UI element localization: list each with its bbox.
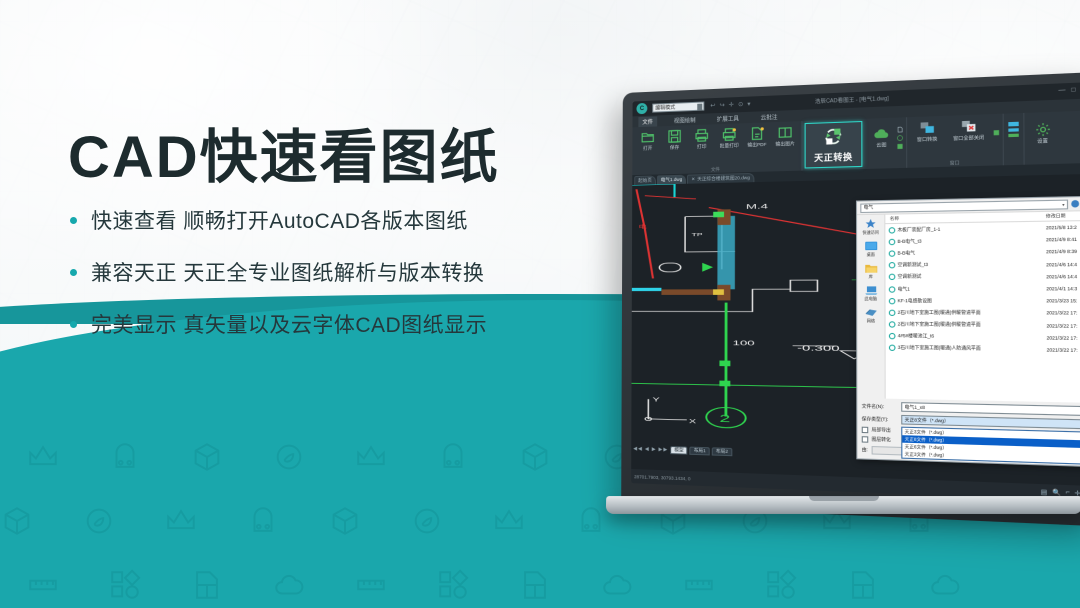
settings-label: 设置 — [1037, 138, 1048, 145]
layout1-tab[interactable]: 布局1 — [690, 447, 710, 456]
dwg-file-icon — [889, 274, 896, 280]
tianzheng-convert-label: 天正转换 — [814, 151, 853, 165]
svg-text:Y: Y — [653, 396, 661, 403]
bars-icon[interactable] — [1008, 128, 1018, 132]
sidebar-label-library: 库 — [869, 275, 873, 280]
file-name: 空调新测试 — [898, 274, 922, 280]
save-button[interactable]: 保存 — [661, 128, 688, 151]
batch-print-label: 批量打印 — [720, 143, 739, 150]
file-date: 2021/4/6 14:4 — [1046, 261, 1080, 267]
column-header-name[interactable]: 名称 — [885, 213, 1046, 222]
tab-nav-first-icon[interactable]: ◀◀ — [633, 446, 643, 452]
zoom-icon[interactable]: ⊙ — [738, 101, 743, 108]
cloud-button[interactable]: 云图 — [867, 125, 896, 151]
file-list-rows: 木板厂装配厂房_1-1 2021/5/8 13:2 B-B电气_t3 2021/… — [885, 221, 1080, 404]
leaf-badge-icon — [82, 504, 116, 538]
table-row[interactable]: KF-1电感散设图 2021/3/23 15: — [886, 295, 1080, 307]
compass-house-icon — [436, 440, 470, 474]
close-all-windows-label: 窗口全部关闭 — [953, 135, 984, 142]
range-from-label: 由: — [862, 447, 868, 454]
compass-house-icon — [108, 440, 142, 474]
tab-nav-last-icon[interactable]: ▶▶ — [659, 447, 669, 453]
ruler-icon — [26, 568, 60, 602]
crown-icon — [492, 504, 526, 538]
tianzheng-convert-icon — [822, 126, 846, 150]
sidebar-item-desktop[interactable]: 桌面 — [864, 241, 877, 258]
sidebar-item-this-pc[interactable]: 此电脑 — [864, 285, 877, 302]
ruler-icon — [682, 568, 716, 602]
window-switch-button[interactable]: 窗口转换 — [909, 119, 945, 143]
sidebar-item-quick-access[interactable]: 快速访问 — [862, 218, 879, 236]
save-type-value: 天正8文件（*.dwg） — [905, 417, 949, 425]
feature-text: 完美显示 真矢量以及云字体CAD图纸显示 — [91, 309, 487, 339]
sidebar-label-this-pc: 此电脑 — [865, 297, 877, 302]
sidebar-label-desktop: 桌面 — [867, 253, 875, 258]
crown-icon — [26, 440, 60, 474]
compass-house-icon — [246, 504, 280, 538]
table-row[interactable]: 空调新测试 2021/4/6 14:4 — [885, 270, 1080, 283]
model-tab[interactable]: 模型 — [670, 446, 687, 455]
open-button[interactable]: 打开 — [634, 129, 661, 152]
save-label: 保存 — [670, 145, 679, 151]
app-logo-icon: C — [636, 103, 647, 114]
partial-export-label: 局部导出 — [872, 427, 891, 434]
chevron-down-icon[interactable]: ▾ — [1062, 201, 1064, 206]
printer-icon — [694, 128, 709, 144]
cube-rotate-icon — [518, 440, 552, 474]
dwg-file-icon — [889, 310, 896, 316]
sidebar-item-library[interactable]: 库 — [864, 263, 877, 280]
shapes-icon — [764, 568, 798, 602]
folder-open-icon — [640, 130, 655, 145]
file-date: 2021/3/22 17: — [1046, 310, 1080, 316]
bullet-dot-icon — [70, 269, 77, 276]
file-name: 木板厂装配厂房_1-1 — [897, 226, 940, 233]
tab-nav-prev-icon[interactable]: ◀ — [645, 446, 650, 452]
sidebar-item-network[interactable]: 网络 — [864, 307, 877, 324]
close-all-windows-button[interactable]: 窗口全部关闭 — [945, 117, 993, 142]
file-date: 2021/3/22 17: — [1047, 347, 1080, 353]
compass-house-icon — [574, 504, 608, 538]
table-row[interactable]: 电气1 2021/4/1 14:3 — [885, 282, 1080, 295]
tab-extended-tools[interactable]: 扩展工具 — [713, 113, 743, 124]
file-name-value: 电气1_x8 — [904, 404, 924, 411]
window-controls[interactable]: — □ ✕ — [1058, 87, 1080, 96]
document-grid-icon — [518, 568, 552, 602]
dwg-file-icon — [889, 333, 896, 339]
table-row[interactable]: 2石川地下室施工图(暖通)供暖管道平面 2021/3/22 17: — [886, 307, 1080, 320]
svg-text:TP: TP — [692, 233, 704, 238]
layer-convert-label: 图层转化 — [872, 436, 891, 443]
file-name: B-B电气_t3 — [897, 238, 921, 245]
dwg-file-icon — [889, 239, 896, 245]
redo-icon[interactable]: ↪ — [720, 102, 725, 109]
shapes-icon — [436, 568, 470, 602]
settings-button[interactable]: 设置 — [1027, 120, 1059, 145]
minimize-icon[interactable]: — — [1058, 88, 1065, 96]
cloud-icon — [928, 568, 962, 602]
partial-export-checkbox[interactable] — [862, 427, 869, 434]
file-date: 2021/4/9 8:41 — [1046, 236, 1080, 242]
feature-text: 兼容天正 天正全专业图纸解析与版本转换 — [91, 257, 484, 287]
ribbon-group-window: 窗口转换 窗口全部关闭 — [907, 114, 1004, 168]
svg-text:电: 电 — [638, 224, 647, 230]
ruler-icon — [354, 568, 388, 602]
file-date: 2021/3/22 17: — [1047, 335, 1080, 341]
file-name: 2石川地下室施工图(暖通)供暖管道平面 — [898, 321, 981, 328]
tab-file[interactable]: 文件 — [638, 116, 657, 127]
doc-tab-tianzheng-label: 天正综合楼建筑图20.dwg — [697, 175, 750, 182]
column-header-date[interactable]: 修改日期 — [1046, 212, 1080, 220]
dwg-file-icon — [889, 286, 896, 292]
feature-text: 快速查看 顺畅打开AutoCAD各版本图纸 — [91, 205, 468, 235]
batch-print-icon — [722, 127, 737, 143]
floppy-save-icon — [667, 129, 682, 145]
save-type-label: 保存类型(T): — [862, 416, 902, 423]
ribbon-group-settings: 设置 — [1024, 112, 1060, 165]
file-list[interactable]: 名称 修改日期 木板厂装配厂房_1-1 2021/5/8 13:2 — [885, 211, 1080, 404]
cloud-upload-icon[interactable] — [896, 126, 904, 134]
window-switch-icon — [919, 119, 936, 135]
export-pdf-button[interactable]: 输出PDF — [743, 125, 771, 148]
export-pdf-label: 输出PDF — [747, 142, 766, 149]
crown-icon — [354, 440, 388, 474]
file-date: 2021/4/6 14:4 — [1046, 273, 1080, 279]
bullet-dot-icon — [70, 321, 77, 328]
dialog-form: 文件名(N): 电气1_x8 ▾ 保存类型(T): 天正8文件（*.dwg） — [857, 398, 1080, 467]
laptop-mockup: C 编辑模式 ↩ ↪ ✛ ⊙ ▾ 浩辰CAD看图王 - [电气1.dwg] — [612, 92, 1080, 532]
export-image-icon — [777, 125, 793, 141]
file-date: 2021/5/8 13:2 — [1046, 224, 1080, 230]
document-grid-icon — [190, 568, 224, 602]
layout2-tab[interactable]: 布局2 — [712, 447, 732, 456]
file-name-input[interactable]: 电气1_x8 ▾ — [901, 402, 1080, 417]
layer-convert-checkbox[interactable] — [862, 436, 869, 443]
sidebar-label-quick-access: 快速访问 — [862, 231, 879, 236]
laptop-lid: C 编辑模式 ↩ ↪ ✛ ⊙ ▾ 浩辰CAD看图王 - [电气1.dwg] — [621, 72, 1080, 527]
feature-list: 快速查看 顺畅打开AutoCAD各版本图纸 兼容天正 天正全专业图纸解析与版本转… — [70, 205, 487, 361]
bullet-dot-icon — [70, 217, 77, 224]
save-type-dropdown[interactable]: 天正3文件（*.dwg） 天正8文件（*.dwg） 天正6文件（*.dwg） 天… — [901, 427, 1080, 466]
file-name: 3石川地下室施工图(暖通)人防通风平面 — [898, 345, 981, 352]
dialog-body: 快速访问 桌面 库 — [857, 211, 1080, 404]
dwg-file-icon — [889, 250, 896, 256]
this-pc-icon — [864, 285, 877, 296]
star-icon — [865, 218, 877, 230]
dialog-nav-icons[interactable] — [1070, 199, 1080, 209]
desktop-icon — [864, 241, 877, 252]
list-item: 兼容天正 天正全专业图纸解析与版本转换 — [70, 257, 487, 287]
cube-rotate-icon — [0, 504, 34, 538]
close-all-windows-icon — [960, 118, 977, 135]
stack-icon[interactable] — [1008, 134, 1018, 138]
laptop-base — [606, 496, 1080, 514]
list-item: 完美显示 真矢量以及云字体CAD图纸显示 — [70, 309, 487, 339]
shapes-icon — [108, 568, 142, 602]
tab-cloud-annotation[interactable]: 云批注 — [756, 111, 781, 122]
dwg-file-icon — [889, 298, 896, 304]
svg-text:100: 100 — [733, 340, 756, 348]
dwg-file-icon — [889, 262, 896, 268]
ribbon-group-pause — [1004, 113, 1025, 165]
tab-nav-next-icon[interactable]: ▶ — [652, 446, 657, 452]
chevron-down-icon[interactable] — [697, 104, 702, 111]
doc-tab-start-label: 起始页 — [638, 178, 652, 184]
network-icon — [864, 307, 877, 318]
doc-tab-close-icon[interactable]: ✕ — [691, 176, 695, 182]
undo-icon[interactable]: ↩ — [710, 102, 715, 109]
file-name: 空调新测试_t3 — [898, 262, 928, 269]
cloud-sync-icon[interactable] — [896, 134, 904, 142]
ribbon-group-cloud: 云图 — [865, 117, 908, 169]
pan-icon[interactable]: ✛ — [729, 101, 734, 108]
cursor-coordinates: 28701.7903, 30793.1434, 0 — [634, 474, 690, 481]
svg-text:M.4: M.4 — [746, 203, 769, 211]
file-name: 2石川地下室施工图(暖通)供暖管道平面 — [898, 310, 981, 317]
file-name: 4#5#楼暖池江_t6 — [898, 333, 934, 340]
cloud-icon — [873, 125, 889, 141]
pause-icon[interactable] — [1008, 122, 1018, 127]
print-label: 打印 — [697, 144, 706, 150]
ribbon-group-file: 打开 保存 — [632, 121, 802, 175]
cloud-icon — [272, 568, 306, 602]
path-value: 电气 — [864, 204, 874, 210]
file-name-label: 文件名(N): — [862, 403, 902, 410]
file-name: KF-1电感散设图 — [898, 298, 932, 304]
sidebar-label-network: 网络 — [867, 319, 875, 324]
export-pdf-icon — [749, 126, 765, 142]
dwg-file-icon — [889, 345, 896, 351]
cad-application: C 编辑模式 ↩ ↪ ✛ ⊙ ▾ 浩辰CAD看图王 - [电气1.dwg] — [631, 82, 1080, 502]
dwg-file-icon — [889, 321, 896, 327]
tianzheng-convert-button[interactable]: 天正转换 — [805, 121, 863, 169]
batch-print-button[interactable]: 批量打印 — [715, 126, 743, 149]
cloud-share-icon[interactable] — [896, 143, 904, 151]
more-icon[interactable]: ▾ — [747, 101, 750, 108]
table-row[interactable]: 3石川地下室施工图(暖通)人防通风平面 2021/3/22 17: — [886, 342, 1080, 357]
dwg-file-icon — [889, 227, 896, 233]
grid-icon[interactable]: ▤ — [1041, 488, 1048, 496]
file-date: 2021/3/23 15: — [1046, 298, 1080, 304]
crown-icon — [164, 504, 198, 538]
print-button[interactable]: 打印 — [688, 127, 715, 150]
poster-canvas: CAD快速看图纸 快速查看 顺畅打开AutoCAD各版本图纸 兼容天正 天正全专… — [0, 0, 1080, 608]
pattern-row — [0, 568, 1080, 602]
cloud-label: 云图 — [876, 142, 886, 149]
file-name: 电气1 — [898, 286, 910, 292]
library-folder-icon — [864, 263, 877, 274]
dialog-sidebar[interactable]: 快速访问 桌面 库 — [857, 215, 886, 399]
document-grid-icon — [846, 568, 880, 602]
cube-rotate-icon — [190, 440, 224, 474]
table-row[interactable]: 空调新测试_t3 2021/4/6 14:4 — [885, 258, 1080, 272]
save-file-dialog[interactable]: 电气 ▾ — [856, 195, 1080, 468]
file-date: 2021/3/22 17: — [1046, 323, 1080, 329]
gear-icon — [1034, 121, 1052, 138]
cube-rotate-icon — [328, 504, 362, 538]
quick-access-toolbar[interactable]: ↩ ↪ ✛ ⊙ ▾ — [710, 101, 750, 110]
open-label: 打开 — [643, 146, 652, 152]
svg-text:-0.300: -0.300 — [797, 344, 840, 353]
laptop-screen: C 编辑模式 ↩ ↪ ✛ ⊙ ▾ 浩辰CAD看图王 - [电气1.dwg] — [631, 82, 1080, 502]
file-date: 2021/4/9 8:39 — [1046, 249, 1080, 255]
tab-view-draw[interactable]: 视图绘制 — [670, 114, 700, 125]
path-combo[interactable]: 电气 ▾ — [860, 199, 1068, 212]
window-switch-label: 窗口转换 — [917, 136, 937, 143]
svg-text:X: X — [689, 418, 697, 425]
window-more-icon[interactable] — [992, 129, 1000, 137]
list-item: 快速查看 顺畅打开AutoCAD各版本图纸 — [70, 205, 487, 235]
file-date: 2021/4/1 14:3 — [1046, 286, 1080, 292]
leaf-badge-icon — [272, 440, 306, 474]
back-icon[interactable] — [1070, 199, 1080, 208]
edit-mode-label: 编辑模式 — [655, 104, 675, 112]
doc-tab-electric-label: 电气1.dwg — [661, 177, 682, 184]
export-image-button[interactable]: 输出图片 — [771, 124, 799, 148]
svg-text:2: 2 — [719, 413, 730, 425]
page-title: CAD快速看图纸 — [68, 110, 500, 194]
leaf-badge-icon — [410, 504, 444, 538]
export-image-label: 输出图片 — [776, 141, 795, 148]
file-name: B-B电气 — [898, 250, 915, 257]
maximize-icon[interactable]: □ — [1071, 87, 1075, 95]
edit-mode-selector[interactable]: 编辑模式 — [652, 101, 704, 112]
cloud-icon — [600, 568, 634, 602]
